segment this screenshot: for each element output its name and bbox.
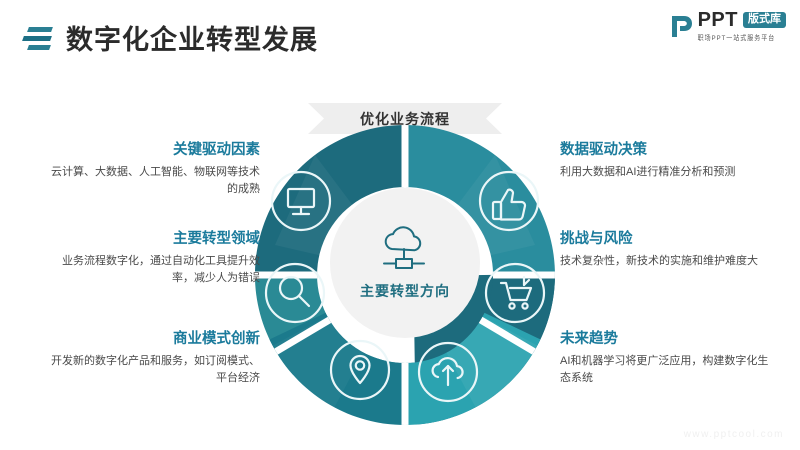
- brand-name: PPT: [698, 10, 738, 30]
- block-desc: 云计算、大数据、人工智能、物联网等技术的成熟: [48, 164, 260, 198]
- brand-row: PPT 版式库: [698, 10, 786, 30]
- center-label: 主要转型方向: [360, 281, 450, 301]
- block-title: 关键驱动因素: [48, 142, 260, 159]
- block-title: 数据驱动决策: [560, 142, 772, 159]
- block-desc: 利用大数据和AI进行精准分析和预测: [560, 164, 772, 181]
- info-block-future-trends: 未来趋势 AI和机器学习将更广泛应用，构建数字化生态系统: [560, 331, 772, 387]
- info-block-key-drivers: 关键驱动因素 云计算、大数据、人工智能、物联网等技术的成熟: [48, 142, 260, 198]
- logo-bar-bottom: [27, 45, 51, 50]
- brand-badge: 版式库: [743, 12, 786, 28]
- brand-logo: PPT 版式库 职场PPT一站式服务平台: [668, 8, 786, 44]
- slide-header: 数字化企业转型发展 PPT 版式库 职场PPT一站式服务平台: [0, 0, 800, 70]
- block-desc: 技术复杂性，新技术的实施和维护难度大: [560, 253, 772, 270]
- cloud-network-icon: [374, 225, 436, 277]
- ppt-p-icon: [668, 13, 694, 39]
- info-block-data-driven: 数据驱动决策 利用大数据和AI进行精准分析和预测: [560, 142, 772, 181]
- watermark: www.pptcool.com: [684, 429, 784, 440]
- block-title: 挑战与风险: [560, 231, 772, 248]
- block-title: 主要转型领域: [48, 231, 260, 248]
- center-disc: 主要转型方向: [330, 188, 480, 338]
- page-title: 数字化企业转型发展: [66, 18, 318, 57]
- block-desc: AI和机器学习将更广泛应用，构建数字化生态系统: [560, 353, 772, 387]
- logo-bar-top: [27, 27, 53, 32]
- block-title: 商业模式创新: [48, 331, 260, 348]
- three-bars-logo-icon: [20, 25, 54, 51]
- block-title: 未来趋势: [560, 331, 772, 348]
- block-desc: 业务流程数字化，通过自动化工具提升效率，减少人为错误: [48, 253, 260, 287]
- brand-text: PPT 版式库 职场PPT一站式服务平台: [698, 10, 786, 42]
- info-block-challenges: 挑战与风险 技术复杂性，新技术的实施和维护难度大: [560, 231, 772, 270]
- logo-bar-middle: [22, 36, 52, 41]
- block-desc: 开发新的数字化产品和服务，如订阅模式、平台经济: [48, 353, 260, 387]
- info-block-main-areas: 主要转型领域 业务流程数字化，通过自动化工具提升效率，减少人为错误: [48, 231, 260, 287]
- brand-tagline: 职场PPT一站式服务平台: [698, 33, 776, 43]
- info-block-business-model: 商业模式创新 开发新的数字化产品和服务，如订阅模式、平台经济: [48, 331, 260, 387]
